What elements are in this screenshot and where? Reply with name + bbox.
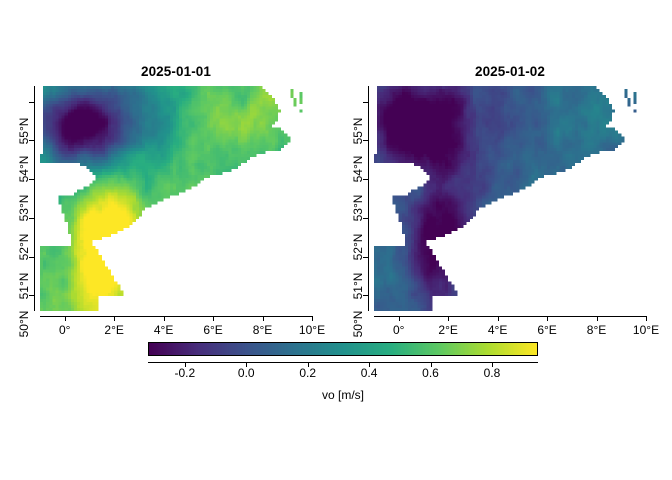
panel-1-raster (40, 86, 312, 311)
x-tick (263, 316, 264, 321)
panel-2-title: 2025-01-02 (374, 64, 646, 79)
x-tick (547, 316, 548, 321)
colorbar-axis-line (148, 362, 538, 363)
panel-1-title: 2025-01-01 (40, 64, 312, 79)
x-tick (65, 316, 66, 321)
x-tick (312, 316, 313, 321)
colorbar-gradient (148, 342, 538, 356)
x-tick (448, 316, 449, 321)
colorbar-title: vo [m/s] (148, 388, 538, 402)
x-tick (114, 316, 115, 321)
x-tick (597, 316, 598, 321)
x-axis-line (40, 316, 312, 317)
colorbar-tick-label: 0.4 (339, 366, 399, 380)
x-tick (646, 316, 647, 321)
y-axis-line (368, 86, 369, 311)
colorbar-tick-label: 0.6 (401, 366, 461, 380)
colorbar-tick-label: 0.8 (462, 366, 522, 380)
y-axis-line (34, 86, 35, 311)
panel-1-plot-area (40, 86, 312, 311)
x-tick-label: 10°E (282, 323, 342, 337)
colorbar-tick-label: 0.0 (216, 366, 276, 380)
x-tick (213, 316, 214, 321)
x-tick-label: 10°E (616, 323, 672, 337)
x-tick (498, 316, 499, 321)
y-tick-label: 55°N (351, 101, 365, 161)
x-tick (164, 316, 165, 321)
x-tick (399, 316, 400, 321)
y-tick-label: 55°N (17, 101, 31, 161)
colorbar-tick-label: 0.2 (278, 366, 338, 380)
panel-2-raster (374, 86, 646, 311)
colorbar-tick-label: -0.2 (155, 366, 215, 380)
figure-root: 2025-01-01 0°2°E4°E6°E8°E10°E50°N51°N52°… (0, 0, 672, 480)
x-axis-line (374, 316, 646, 317)
panel-2-plot-area (374, 86, 646, 311)
